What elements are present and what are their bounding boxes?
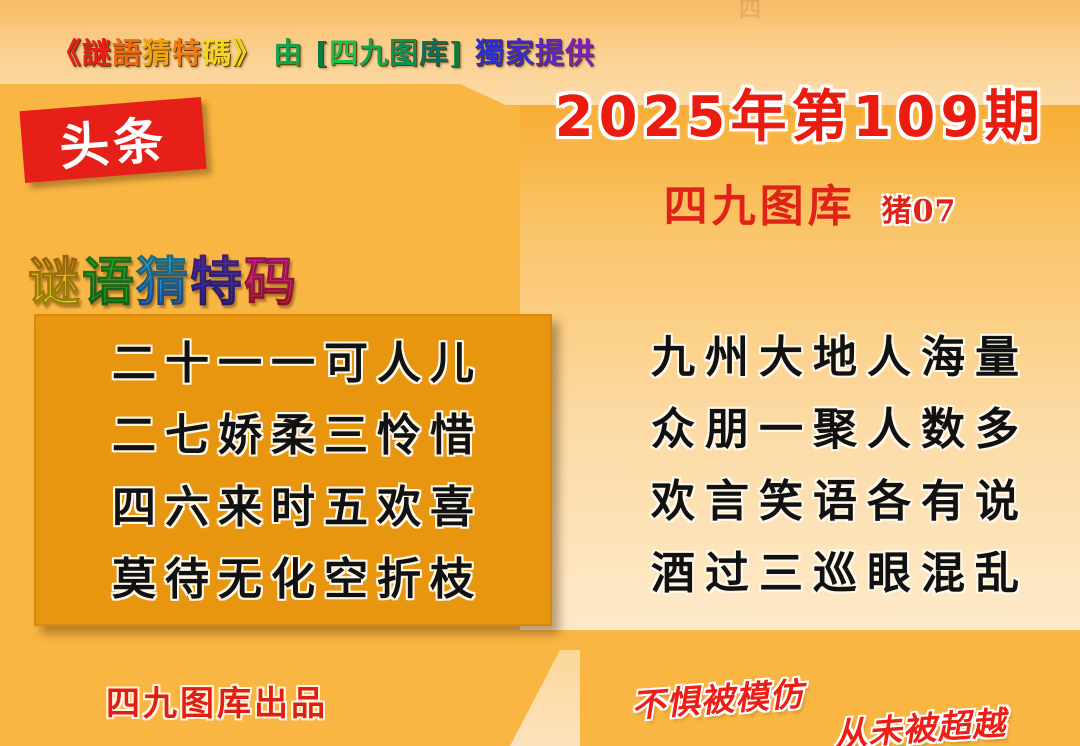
poem-line: 酒过三巡眼混乱 bbox=[600, 538, 1070, 610]
poem-line: 众朋一聚人数多 bbox=[600, 394, 1070, 466]
glyph-15: ] bbox=[449, 36, 464, 70]
glyph-13: 图 bbox=[389, 36, 419, 70]
headline-badge: 头条 bbox=[19, 97, 206, 183]
glyph-4: 特 bbox=[172, 36, 202, 70]
poem-line: 欢言笑语各有说 bbox=[600, 466, 1070, 538]
slogan-never-surpassed: 从未被超越 bbox=[833, 696, 1013, 746]
headline-badge-label: 头条 bbox=[19, 97, 206, 183]
glyph-3: 猜 bbox=[142, 36, 172, 70]
glyph-9 bbox=[303, 36, 314, 70]
poem-line: 九州大地人海量 bbox=[600, 322, 1070, 394]
glyph-19: 提 bbox=[535, 36, 565, 70]
riddle-line: 二十一一可人儿 bbox=[36, 328, 550, 400]
glyph-10: [ bbox=[314, 36, 329, 70]
glyph-0: 谜 bbox=[28, 240, 82, 315]
poster-canvas: 四 《謎語猜特碼》 由 [四九图库] 獨家提供 头条 2025年第109期 四九… bbox=[0, 0, 1080, 746]
zodiac-code: 猪07 bbox=[882, 186, 957, 230]
glyph-1: 语 bbox=[82, 240, 136, 315]
glyph-5: 碼 bbox=[202, 36, 232, 70]
glyph-8: 由 bbox=[273, 36, 303, 70]
glyph-1: 謎 bbox=[82, 36, 112, 70]
glyph-3: 特 bbox=[190, 240, 244, 315]
poem-block: 九州大地人海量 众朋一聚人数多 欢言笑语各有说 酒过三巡眼混乱 bbox=[600, 322, 1070, 610]
issue-title: 2025年第109期 bbox=[540, 72, 1060, 153]
glyph-2: 猜 bbox=[136, 240, 190, 315]
glyph-11: 四 bbox=[329, 36, 359, 70]
slogan-not-afraid-of-copy: 不惧被模仿 bbox=[631, 667, 811, 727]
glyph-20: 供 bbox=[565, 36, 595, 70]
glyph-2: 語 bbox=[112, 36, 142, 70]
riddle-card: 二十一一可人儿 二七娇柔三怜惜 四六来时五欢喜 莫待无化空折枝 bbox=[34, 314, 552, 626]
glyph-7 bbox=[262, 36, 273, 70]
riddle-line: 莫待无化空折枝 bbox=[36, 544, 550, 616]
footer-brand-credit: 四九图库出品 bbox=[106, 676, 328, 725]
glyph-18: 家 bbox=[505, 36, 535, 70]
riddle-line: 二七娇柔三怜惜 bbox=[36, 400, 550, 472]
glyph-17: 獨 bbox=[475, 36, 505, 70]
bottom-left-notch bbox=[420, 650, 580, 746]
glyph-4: 码 bbox=[244, 240, 298, 315]
watermark-glyph: 四 bbox=[735, 0, 765, 24]
riddle-line: 四六来时五欢喜 bbox=[36, 472, 550, 544]
brand-row: 四九图库 猪07 bbox=[560, 170, 1060, 234]
glyph-16 bbox=[464, 36, 475, 70]
section-title-riddle: 谜语猜特码 bbox=[28, 240, 298, 315]
header-tagline: 《謎語猜特碼》 由 [四九图库] 獨家提供 bbox=[52, 30, 595, 72]
glyph-12: 九 bbox=[359, 36, 389, 70]
glyph-14: 库 bbox=[419, 36, 449, 70]
glyph-0: 《 bbox=[52, 36, 82, 70]
brand-name: 四九图库 bbox=[664, 170, 856, 234]
glyph-6: 》 bbox=[232, 36, 262, 70]
